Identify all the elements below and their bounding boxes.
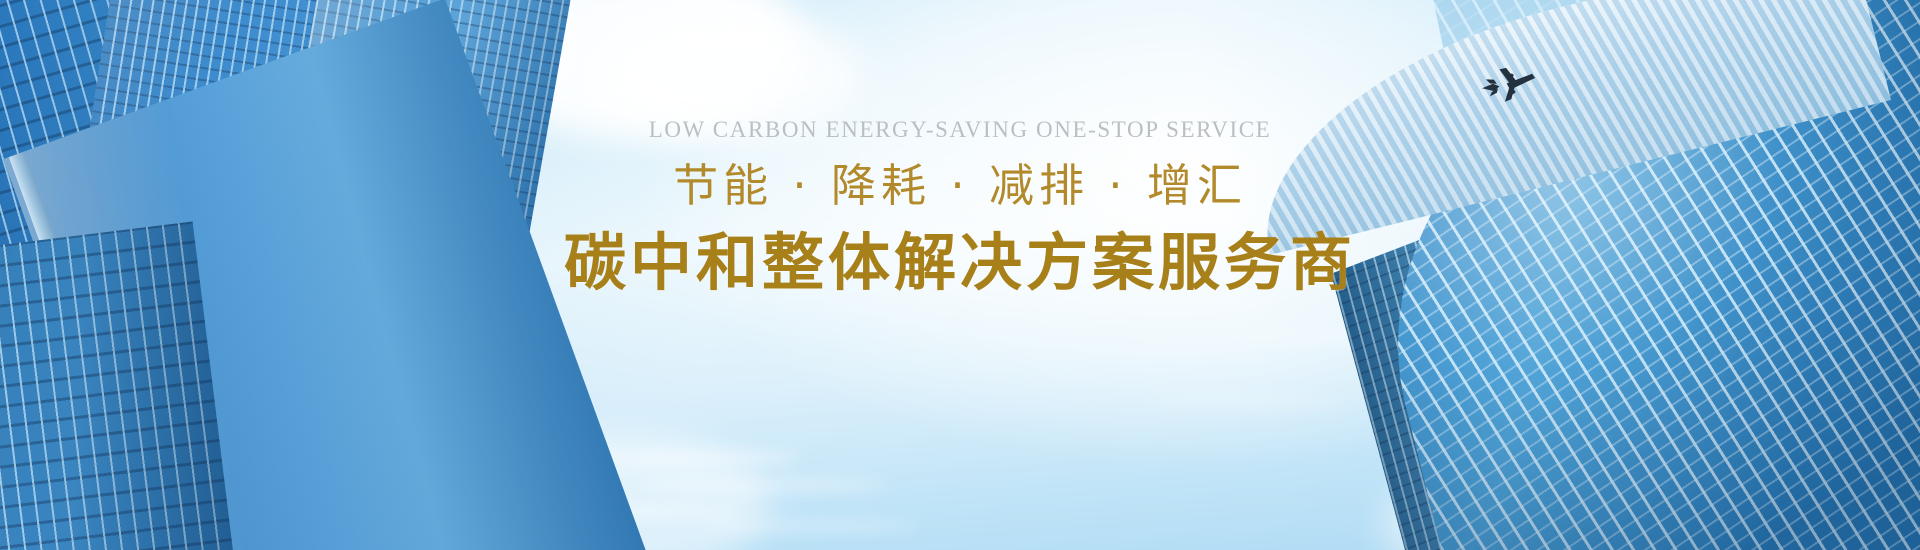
hero-banner: LOW CARBON ENERGY-SAVING ONE-STOP SERVIC… [0,0,1920,550]
